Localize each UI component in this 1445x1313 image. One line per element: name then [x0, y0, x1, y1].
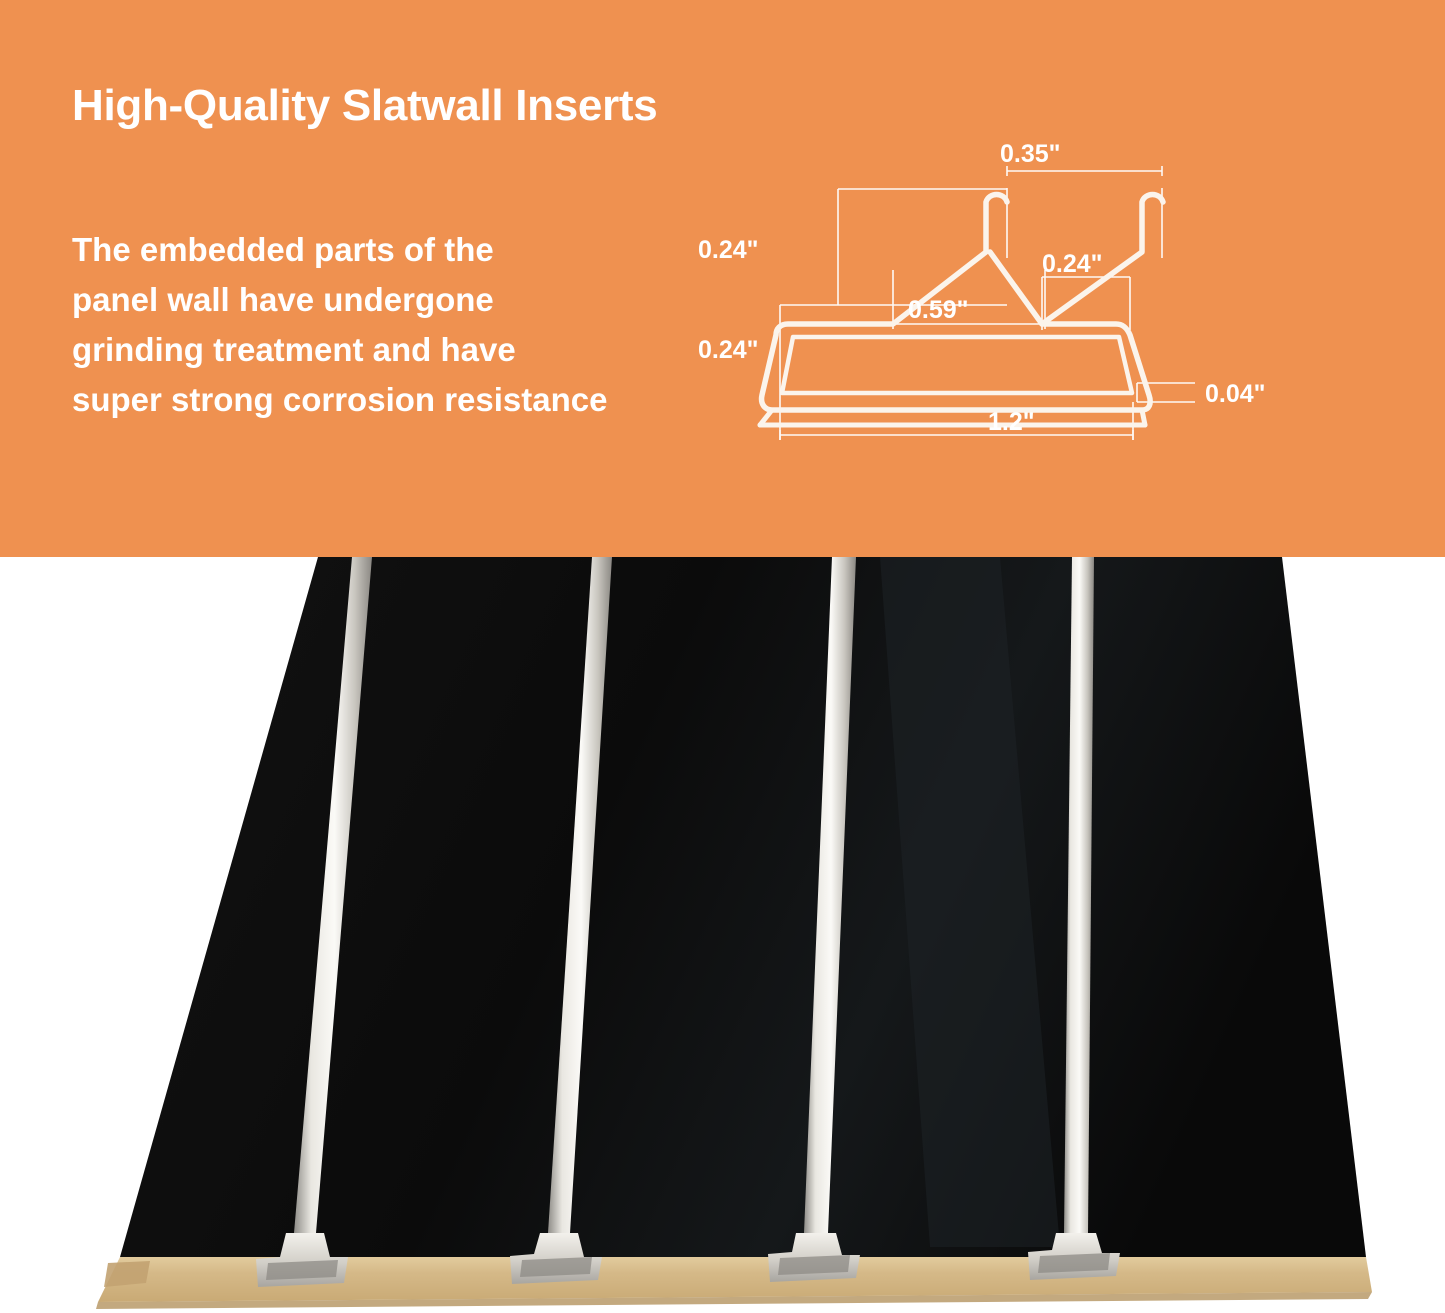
dimension-label-lower-height: 0.24" — [698, 336, 759, 364]
description-line-4: super strong corrosion resistance — [72, 375, 712, 425]
dimension-label-top-flange: 0.35" — [1000, 140, 1061, 168]
orange-banner: High-Quality Slatwall Inserts The embedd… — [0, 0, 1445, 557]
dimension-label-inner-width: 0.59" — [908, 296, 969, 324]
description-line-2: panel wall have undergone — [72, 275, 712, 325]
description-line-3: grinding treatment and have — [72, 325, 712, 375]
page-title: High-Quality Slatwall Inserts — [72, 82, 972, 130]
description-text: The embedded parts of the panel wall hav… — [72, 225, 712, 426]
cross-section-diagram: 0.35" 0.24" 0.24" 0.24" 0.59" 1.2" 0.04" — [690, 130, 1445, 460]
slatwall-panel-photo — [0, 557, 1445, 1313]
product-infographic: High-Quality Slatwall Inserts The embedd… — [0, 0, 1445, 1313]
dimension-label-overall-width: 1.2" — [988, 408, 1035, 436]
insert-profile-inner-wall — [782, 337, 1132, 393]
description-line-1: The embedded parts of the — [72, 225, 712, 275]
dimension-label-thickness: 0.04" — [1205, 380, 1266, 408]
mdf-edge-chip — [104, 1261, 150, 1287]
dimension-label-right-step: 0.24" — [1042, 250, 1103, 278]
dimension-label-upper-height: 0.24" — [698, 236, 759, 264]
